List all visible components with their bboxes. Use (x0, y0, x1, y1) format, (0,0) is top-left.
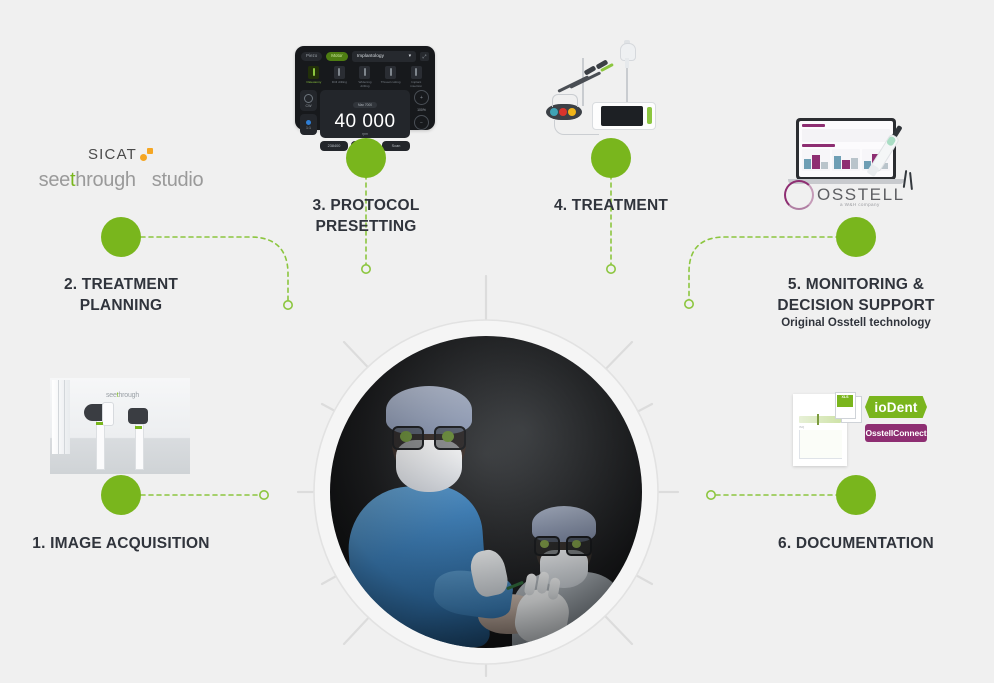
connector-endpoint-3 (362, 265, 370, 273)
report-axis-label: ISQ (799, 425, 804, 429)
report-chart (799, 430, 842, 459)
device-step-tab[interactable]: Implant insertion (406, 66, 426, 88)
decrease-button[interactable]: − (414, 115, 429, 130)
device-topbar: Piezo Motor Implantology ▾ ⤢ (295, 46, 435, 65)
protocol-device-screen[interactable]: Piezo Motor Implantology ▾ ⤢ Osteotomy D… (295, 46, 435, 130)
treatment-console[interactable] (592, 102, 656, 130)
device-step-tab[interactable]: Widening drilling (355, 66, 375, 88)
pedal-button-yellow[interactable] (568, 108, 576, 116)
step-label-5: 5. MONITORING & DECISION SUPPORT (756, 274, 956, 316)
pedal-cable (554, 120, 599, 135)
documentation-photo: ISQ XLS ioDent OsstellConnect (793, 392, 933, 468)
step-node-1[interactable] (101, 475, 141, 515)
sicat-mark-icon (140, 148, 154, 161)
step-label-4: 4. TREATMENT (511, 195, 711, 216)
drill-icon (385, 66, 396, 79)
coolant-value: 100% (417, 108, 426, 112)
connector-endpoint-6 (707, 491, 715, 499)
speed-value: 40 000 (320, 111, 410, 132)
drill-icon (334, 66, 345, 79)
step-sublabel-5: Original Osstell technology (756, 316, 956, 330)
step-node-4[interactable] (591, 138, 631, 178)
connector-endpoint-1 (260, 491, 268, 499)
device-step-tab[interactable]: Osteotomy (304, 66, 324, 88)
surgery-photo (330, 336, 642, 648)
treatment-unit-photo (540, 40, 685, 145)
step-node-6[interactable] (836, 475, 876, 515)
osstell-ring-icon (784, 180, 814, 210)
osstell-tagline: a W&H company (840, 202, 880, 207)
device-step-tabs: Osteotomy Drill drilling Widening drilli… (295, 65, 435, 90)
pedal-button-red[interactable] (559, 108, 567, 116)
console-screen (601, 106, 643, 126)
dashboard-title-bar (802, 124, 825, 127)
xray-unit-right (126, 408, 152, 468)
ratio-label: 1:1 (306, 126, 311, 130)
wall-brand: seethrough (106, 392, 139, 399)
osstell-monitoring-photo: OSSTELL a W&H company (788, 118, 928, 214)
gear-ratio-button[interactable]: 1:1 (300, 114, 317, 135)
device-step-label: Osteotomy (304, 80, 324, 84)
sicat-wordmark: SICAT (46, 146, 196, 163)
device-mode-motor[interactable]: Motor (326, 52, 348, 62)
speed-readout: Max 7000 40 000 rpm (320, 90, 410, 138)
step-label-6: 6. DOCUMENTATION (756, 533, 956, 554)
osstell-logo: OSSTELL a W&H company (784, 180, 924, 210)
device-step-tab[interactable]: Thread cutting (381, 66, 401, 88)
dashboard-section-bar (802, 144, 835, 147)
device-action-button[interactable]: Scan (382, 141, 410, 151)
console-accent (647, 107, 652, 124)
iodent-badge: ioDent (865, 396, 927, 418)
foot-pedal[interactable] (546, 104, 582, 120)
drill-icon (359, 66, 370, 79)
image-acquisition-photo: seethrough (50, 378, 190, 474)
step-node-5[interactable] (836, 217, 876, 257)
rotation-direction-button[interactable]: CW (300, 90, 317, 111)
excel-export-icon: XLS (835, 392, 861, 422)
room-window (52, 380, 70, 454)
device-step-tab[interactable]: Drill drilling (329, 66, 349, 88)
device-mode-piezo[interactable]: Piezo (301, 52, 322, 62)
coolant-level: 100% (417, 108, 426, 112)
pedal-button-blue[interactable] (550, 108, 558, 116)
drill-icon (411, 66, 422, 79)
step-label-2: 2. TREATMENT PLANNING (21, 274, 221, 316)
device-step-label: Thread cutting (381, 80, 401, 84)
connector-endpoint-2 (284, 301, 292, 309)
irrigation-bottle (616, 40, 638, 70)
ratio-dot-icon (306, 120, 311, 125)
dashboard-chart (802, 149, 830, 171)
connector-endpoint-4 (607, 265, 615, 273)
step-label-3: 3. PROTOCOL PRESETTING (266, 195, 466, 237)
rotation-icon (304, 94, 313, 103)
workflow-diagram: SICAT seethrough studio 2. TREATMENT PLA… (0, 0, 994, 683)
seethrough-part-a: see (39, 169, 70, 192)
chevron-down-icon: ▾ (409, 54, 411, 59)
increase-button[interactable]: + (414, 90, 429, 105)
dashboard-chart (832, 149, 860, 171)
photo-vignette (330, 336, 642, 648)
device-step-label: Implant insertion (406, 80, 426, 88)
device-program-select[interactable]: Implantology ▾ (352, 51, 416, 62)
device-action-button[interactable]: 238400 (320, 141, 348, 151)
sicat-text: SICAT (88, 146, 137, 163)
device-left-controls: CW 1:1 (300, 90, 317, 151)
speed-max-tag: Max 7000 (353, 102, 377, 108)
rotation-label: CW (306, 104, 312, 108)
connector-endpoint-5 (685, 300, 693, 308)
xray-unit-left (84, 402, 114, 468)
speed-unit: rpm (320, 132, 410, 136)
expand-icon[interactable]: ⤢ (420, 52, 429, 61)
seethrough-part-b: hrough (75, 169, 135, 192)
device-program-value: Implantology (357, 54, 384, 59)
center-hub (316, 322, 656, 662)
pedal-handle (552, 94, 578, 107)
osstellconnect-badge: OsstellConnect (865, 424, 927, 442)
studio-text: studio (152, 169, 204, 192)
device-step-label: Drill drilling (329, 80, 349, 84)
sicat-logo: SICAT seethrough studio (46, 146, 196, 192)
step-node-3[interactable] (346, 138, 386, 178)
step-label-1: 1. IMAGE ACQUISITION (21, 533, 221, 554)
seethrough-studio-wordmark: seethrough studio (46, 169, 196, 192)
dashboard-card (802, 129, 890, 142)
drill-icon (308, 66, 319, 79)
device-step-label: Widening drilling (355, 80, 375, 88)
device-right-controls: + 100% − (413, 90, 430, 151)
step-node-2[interactable] (101, 217, 141, 257)
